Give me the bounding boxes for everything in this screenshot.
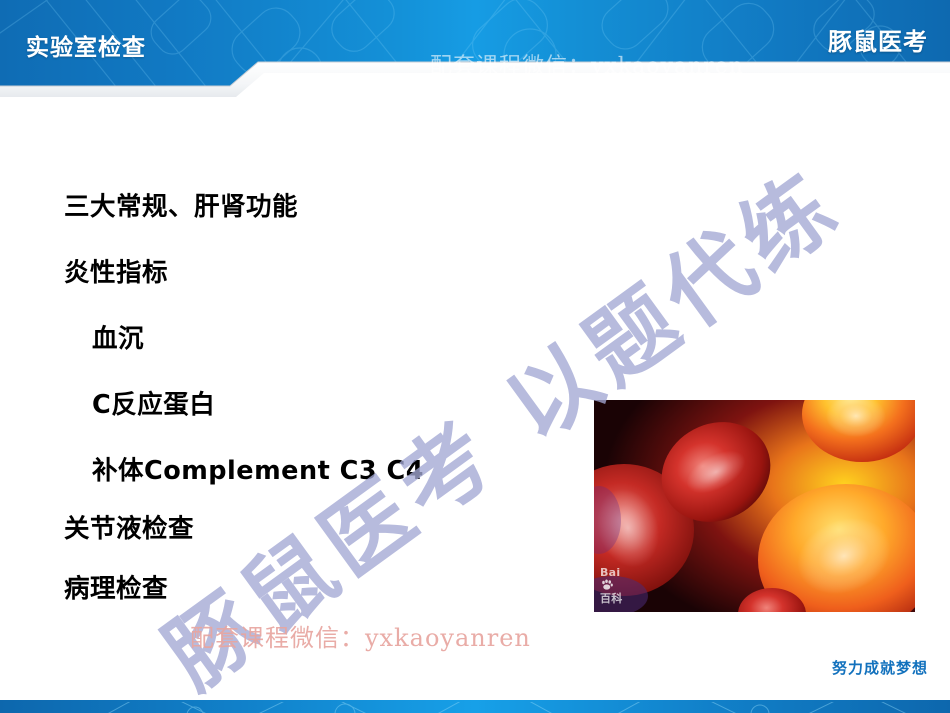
- brand-logo-text: 豚鼠医考: [828, 22, 928, 57]
- baidu-credit-suffix: 百科: [600, 592, 623, 605]
- red-blood-cells-photo: Bai 百科: [594, 400, 915, 612]
- footer-slogan: 努力成就梦想: [832, 657, 928, 678]
- bullet-line: 病理检查: [64, 568, 168, 605]
- bullet-line: 炎性指标: [64, 252, 168, 289]
- blood-cells-illustration: [594, 400, 915, 612]
- header-watermark-text: 配套课程微信：yxkaoyanren: [430, 48, 744, 80]
- baidu-credit-prefix: Bai: [600, 566, 620, 579]
- page-title: 实验室检查: [26, 28, 146, 62]
- slide-header: 实验室检查 配套课程微信：yxkaoyanren 豚鼠医考: [0, 0, 950, 104]
- footer-bar: [0, 700, 950, 713]
- bullet-line: 三大常规、肝肾功能: [64, 186, 298, 223]
- paw-icon: [601, 579, 613, 590]
- bullet-line: 补体Complement C3 C4: [92, 450, 424, 487]
- slide-canvas: 实验室检查 配套课程微信：yxkaoyanren 豚鼠医考 三大常规、肝肾功能 …: [0, 0, 950, 713]
- bullet-line: C反应蛋白: [92, 384, 215, 421]
- footer-pattern-decoration: [0, 702, 950, 713]
- baidu-watermark: Bai 百科: [600, 566, 623, 606]
- bullet-line: 血沉: [92, 318, 144, 355]
- bullet-line: 关节液检查: [64, 508, 194, 545]
- wechat-watermark-text: 配套课程微信：yxkaoyanren: [190, 618, 531, 653]
